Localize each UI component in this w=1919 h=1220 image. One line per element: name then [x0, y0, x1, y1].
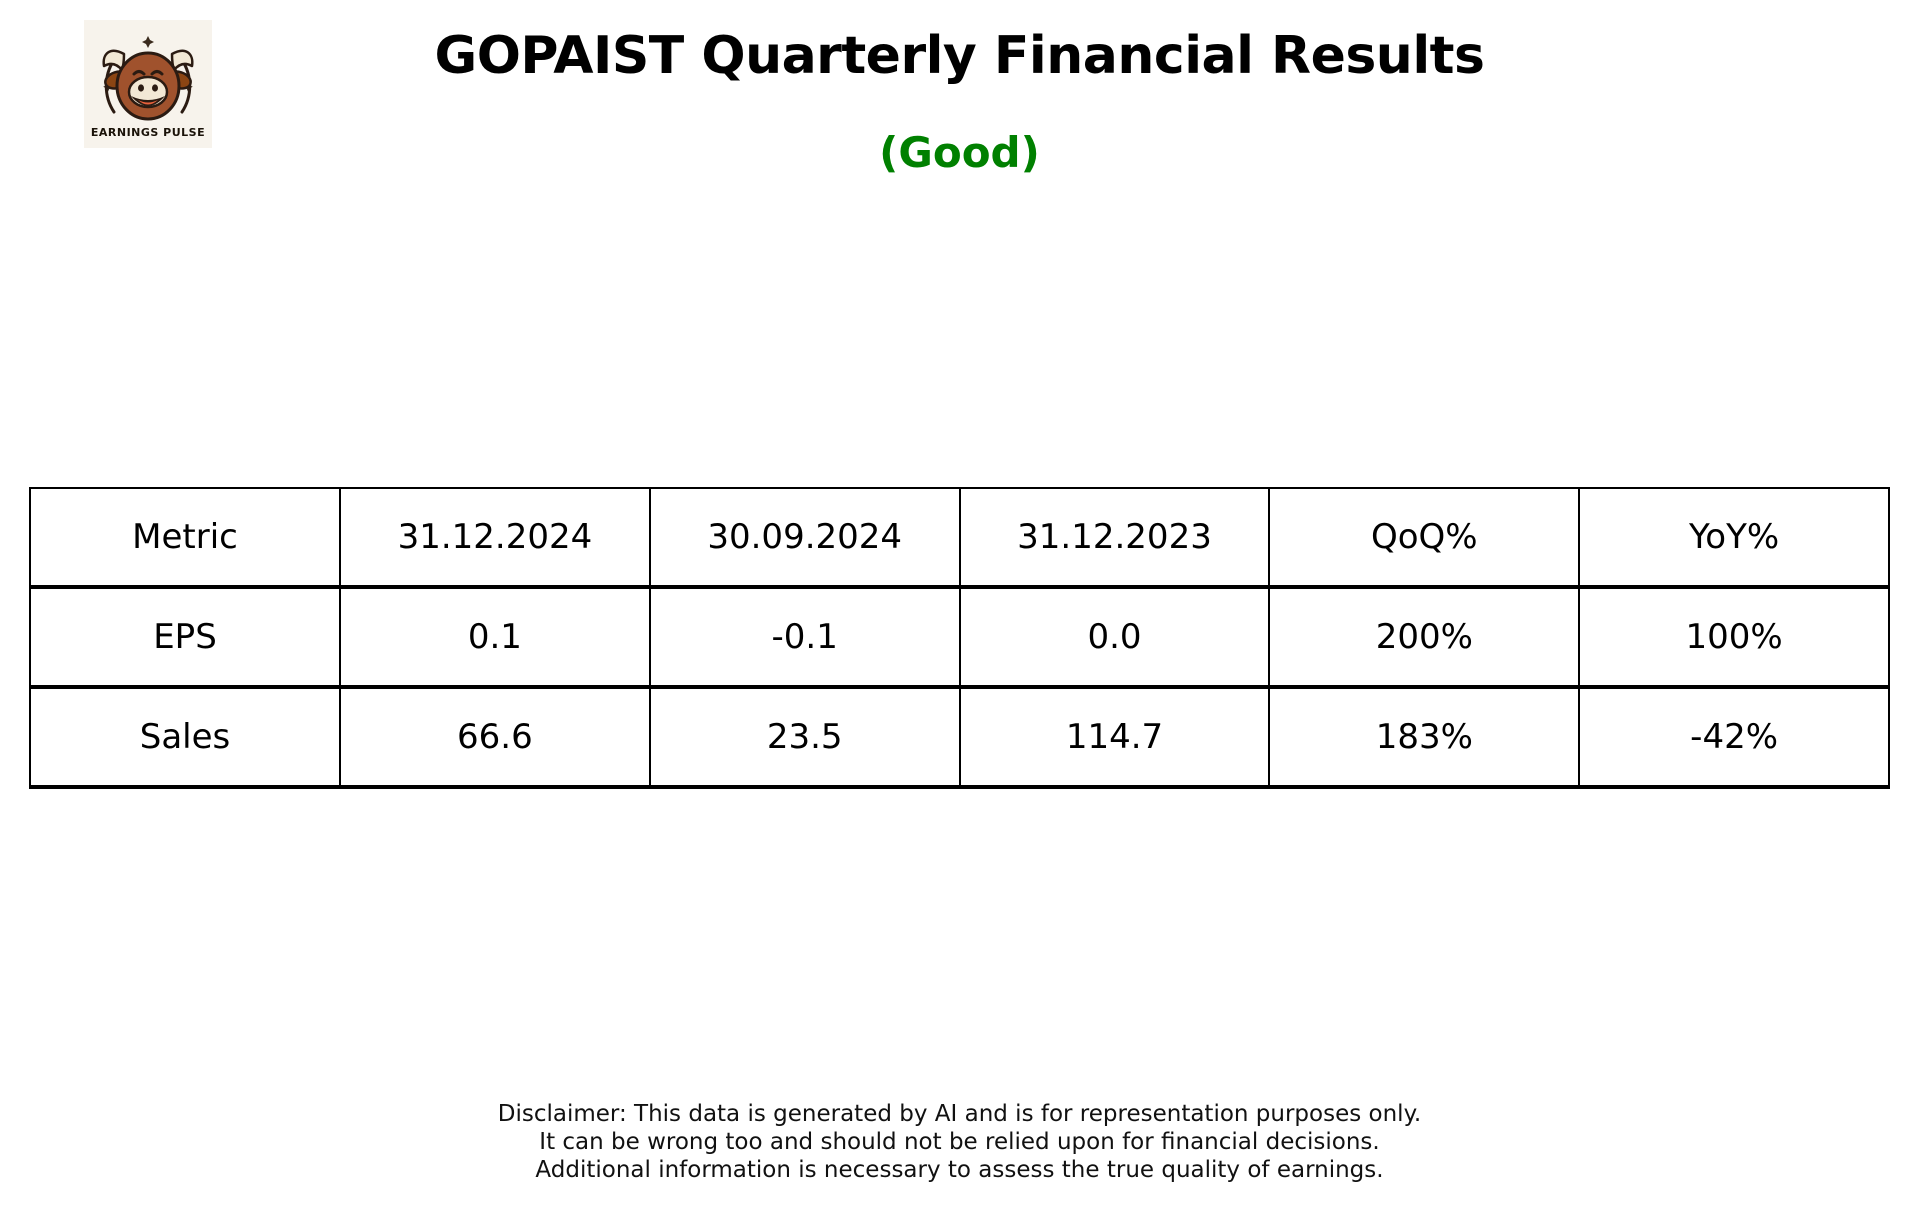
cell-prev-quarter: -0.1 — [650, 587, 960, 687]
financial-results-table-wrapper: Metric 31.12.2024 30.09.2024 31.12.2023 … — [29, 487, 1890, 789]
cell-qoq-change: 183% — [1269, 687, 1579, 787]
cell-prev-quarter: 23.5 — [650, 687, 960, 787]
column-header-prev-year: 31.12.2023 — [960, 488, 1270, 587]
disclaimer-line-1: Disclaimer: This data is generated by AI… — [0, 1100, 1919, 1128]
cell-prev-year: 0.0 — [960, 587, 1270, 687]
column-header-prev-quarter: 30.09.2024 — [650, 488, 960, 587]
cell-yoy-change: 100% — [1579, 587, 1889, 687]
financial-results-table: Metric 31.12.2024 30.09.2024 31.12.2023 … — [29, 487, 1890, 789]
column-header-metric: Metric — [30, 488, 340, 587]
table-row: EPS 0.1 -0.1 0.0 200% 100% — [30, 587, 1889, 687]
table-header-row: Metric 31.12.2024 30.09.2024 31.12.2023 … — [30, 488, 1889, 587]
disclaimer: Disclaimer: This data is generated by AI… — [0, 1100, 1919, 1184]
cell-qoq-change: 200% — [1269, 587, 1579, 687]
sentiment-subtitle: (Good) — [0, 128, 1919, 177]
disclaimer-line-3: Additional information is necessary to a… — [0, 1156, 1919, 1184]
column-header-yoy: YoY% — [1579, 488, 1889, 587]
cell-current-quarter: 66.6 — [340, 687, 650, 787]
cell-yoy-change: -42% — [1579, 687, 1889, 787]
column-header-current-quarter: 31.12.2024 — [340, 488, 650, 587]
column-header-qoq: QoQ% — [1269, 488, 1579, 587]
cell-prev-year: 114.7 — [960, 687, 1270, 787]
table-row: Sales 66.6 23.5 114.7 183% -42% — [30, 687, 1889, 787]
disclaimer-line-2: It can be wrong too and should not be re… — [0, 1128, 1919, 1156]
cell-metric-name: Sales — [30, 687, 340, 787]
cell-current-quarter: 0.1 — [340, 587, 650, 687]
cell-metric-name: EPS — [30, 587, 340, 687]
page-title: GOPAIST Quarterly Financial Results — [0, 26, 1919, 86]
